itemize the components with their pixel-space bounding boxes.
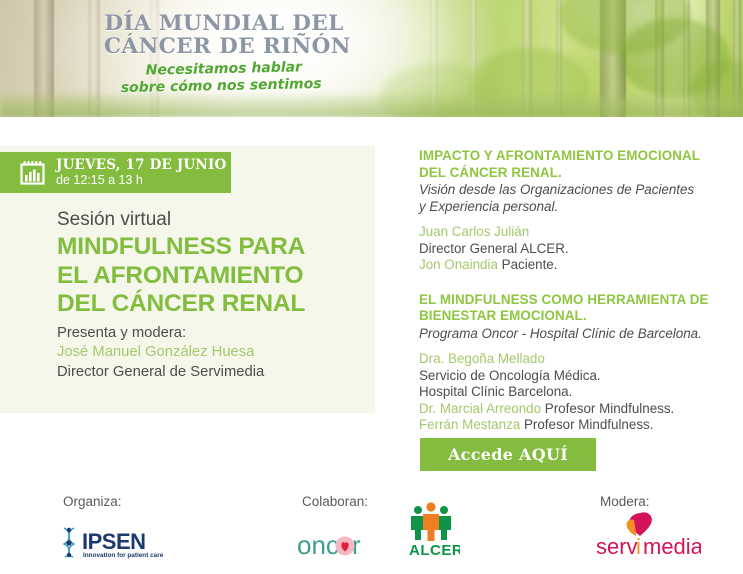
speaker-role: Paciente. (502, 257, 558, 272)
session-title: MINDFULNESS PARA EL AFRONTAMIENTO DEL CÁ… (57, 233, 357, 319)
calendar-icon (19, 159, 46, 186)
session-title-line3: DEL CÁNCER RENAL (57, 290, 357, 319)
speaker-name: Dra. Begoña Mellado (419, 351, 545, 366)
session-title-line1: MINDFULNESS PARA (57, 233, 357, 262)
speaker-name: Dr. Marcial Arreondo (419, 401, 545, 416)
session-info: Sesión virtual MINDFULNESS PARA EL AFRON… (57, 208, 357, 382)
program-block-2: EL MINDFULNESS COMO HERRAMIENTA DE BIENE… (419, 292, 719, 434)
speaker-role: Director General ALCER. (419, 241, 569, 256)
presents-label: Presenta y modera: (57, 324, 357, 344)
access-here-button[interactable]: Accede AQUÍ (420, 438, 596, 471)
presenter-name: José Manuel González Huesa (57, 343, 357, 363)
speaker-row: Dra. Begoña Mellado (419, 351, 719, 368)
speaker-role: Servicio de Oncología Médica. (419, 368, 601, 383)
speaker-name: Juan Carlos Julián (419, 224, 529, 239)
servimedia-wordmark-serv: serv (596, 534, 638, 559)
program-block-1-subtitle-line2: y Experiencia personal. (419, 199, 719, 216)
date-time: de 12:15 a 13 h (56, 173, 226, 188)
ipsen-logo: IPSEN Innovation for patient care (60, 524, 176, 560)
speaker-row: Hospital Clínic Barcelona. (419, 384, 719, 401)
ipsen-wordmark: IPSEN (82, 529, 146, 554)
program-block-2-title-line2: BIENESTAR EMOCIONAL. (419, 308, 719, 325)
alcer-wordmark: ALCER (409, 542, 460, 559)
program-block-1-people: Juan Carlos Julián Director General ALCE… (419, 224, 719, 274)
presenter-role: Director General de Servimedia (57, 363, 357, 383)
session-title-line2: EL AFRONTAMIENTO (57, 262, 357, 291)
session-kicker: Sesión virtual (57, 208, 357, 232)
header-banner: DÍA MUNDIAL DEL CÁNCER DE RIÑÓN Necesita… (0, 0, 743, 117)
organiza-label: Organiza: (63, 494, 122, 509)
speaker-row: Director General ALCER. (419, 241, 719, 258)
program-block-2-title-line1: EL MINDFULNESS COMO HERRAMIENTA DE (419, 292, 719, 309)
speaker-role: Hospital Clínic Barcelona. (419, 384, 572, 399)
alcer-logo: ALCER (402, 501, 460, 559)
banner-title-line2: CÁNCER DE RIÑÓN (104, 35, 344, 58)
program-block-2-people: Dra. Begoña Mellado Servicio de Oncologí… (419, 351, 719, 434)
speaker-row: Jon Onaindia Paciente. (419, 257, 719, 274)
program-block-2-subtitle-line1: Programa Oncor - Hospital Clínic de Barc… (419, 326, 719, 343)
program-block-1-title-line2: DEL CÁNCER RENAL. (419, 165, 719, 182)
svg-text:media: media (643, 534, 701, 559)
servimedia-logo: serv i media (596, 510, 701, 560)
speaker-row: Servicio de Oncología Médica. (419, 368, 719, 385)
svg-text:i: i (636, 534, 641, 559)
speaker-role: Profesor Mindfulness. (524, 417, 654, 432)
program-block-1-subtitle: Visión desde las Organizaciones de Pacie… (419, 182, 719, 215)
oncor-logo: onc r (297, 531, 385, 559)
speaker-row: Juan Carlos Julián (419, 224, 719, 241)
speaker-role: Profesor Mindfulness. (545, 401, 675, 416)
program-block-1-subtitle-line1: Visión desde las Organizaciones de Pacie… (419, 182, 719, 199)
program-column: IMPACTO Y AFRONTAMIENTO EMOCIONAL DEL CÁ… (419, 148, 719, 434)
program-block-1-title: IMPACTO Y AFRONTAMIENTO EMOCIONAL DEL CÁ… (419, 148, 719, 181)
banner-subtitle: Necesitamos hablar sobre cómo nos sentim… (104, 58, 345, 97)
speaker-name: Jon Onaindia (419, 257, 502, 272)
date-badge: JUEVES, 17 DE JUNIO de 12:15 a 13 h (0, 152, 231, 193)
presenter-block: Presenta y modera: José Manuel González … (57, 324, 357, 383)
program-block-2-title: EL MINDFULNESS COMO HERRAMIENTA DE BIENE… (419, 292, 719, 325)
modera-label: Modera: (600, 494, 650, 509)
program-block-1: IMPACTO Y AFRONTAMIENTO EMOCIONAL DEL CÁ… (419, 148, 719, 274)
date-day: JUEVES, 17 DE JUNIO (56, 158, 226, 173)
program-block-2-subtitle: Programa Oncor - Hospital Clínic de Barc… (419, 326, 719, 343)
colaboran-label: Colaboran: (302, 494, 368, 509)
oncor-wordmark: onc (297, 531, 339, 559)
speaker-name: Ferrán Mestanza (419, 417, 524, 432)
date-text-block: JUEVES, 17 DE JUNIO de 12:15 a 13 h (56, 158, 226, 188)
ipsen-tagline: Innovation for patient care (83, 552, 164, 559)
speaker-row: Ferrán Mestanza Profesor Mindfulness. (419, 417, 719, 434)
program-block-1-title-line1: IMPACTO Y AFRONTAMIENTO EMOCIONAL (419, 148, 719, 165)
banner-title-line1: DÍA MUNDIAL DEL (104, 12, 344, 35)
banner-text-block: DÍA MUNDIAL DEL CÁNCER DE RIÑÓN Necesita… (104, 12, 344, 95)
speaker-row: Dr. Marcial Arreondo Profesor Mindfulnes… (419, 401, 719, 418)
